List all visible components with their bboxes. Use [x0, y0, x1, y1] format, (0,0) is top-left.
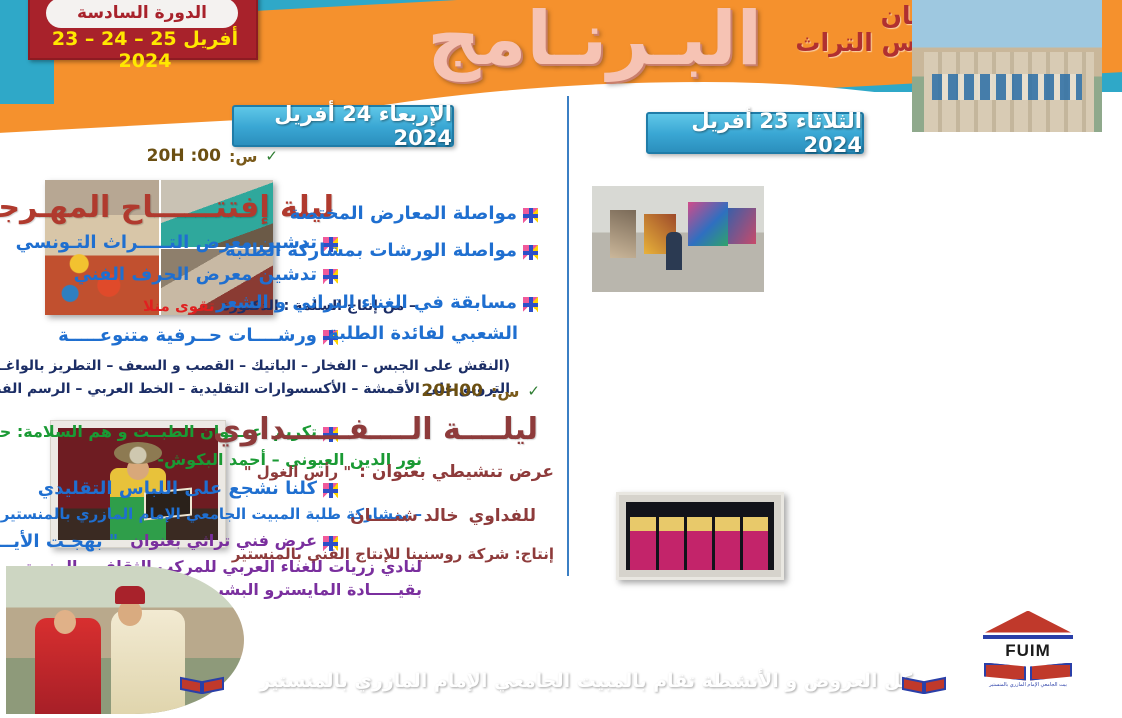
column-divider	[567, 96, 569, 576]
wednesday-performer-label: للفداوي	[469, 506, 536, 526]
troupe-photo	[616, 492, 784, 580]
troupe-performer	[743, 517, 768, 570]
fuim-logo-name: FUIM	[1005, 641, 1051, 661]
wednesday-production: إنتاج: شركة روسنينا للإنتاج الفني بالمنس…	[232, 545, 554, 563]
tuesday-item-1: تدشين معرض الحرف الفني	[74, 264, 338, 285]
fuim-bar-icon	[983, 635, 1073, 639]
fuim-book-left-page	[984, 663, 1026, 681]
tuesday-time-value: 20H :00	[147, 146, 221, 166]
expo-artwork-3	[610, 210, 636, 258]
header-photo-tilework	[932, 74, 1082, 100]
tuesday-workshops-line1: (النقش على الجبس – الفخار – الباتيك – ال…	[0, 358, 510, 374]
bullet-icon	[523, 297, 538, 312]
tuesday-show-title: " بهجـت الأيــام "	[0, 531, 118, 552]
wednesday-time-label: س:	[491, 382, 519, 401]
troupe-performer	[687, 517, 712, 570]
festival-program-poster: الدورة السادسة 23 – 24 – 25 أفريل 2024 م…	[0, 0, 1122, 718]
date-banner-wednesday: الإربعاء 24 أفريل 2024	[232, 105, 454, 147]
fuim-logo-sub: بيت الجامعي الإمام المازري بالمنستير	[989, 682, 1067, 688]
wednesday-performer-row: للفداوي خالد شنــــان	[350, 506, 536, 526]
expo-visitor-figure	[666, 232, 682, 270]
footer-note: كل العروض و الأنشطة تقام بالمبيت الجامعي…	[259, 670, 912, 692]
troupe-photo-inner	[626, 502, 774, 570]
expo-artwork-1	[688, 202, 728, 246]
exhibition-photo	[592, 186, 764, 292]
troupe-performer	[715, 517, 740, 570]
tuesday-workshops-title: ورشــــات حــرفية متنوعـــــة	[58, 325, 317, 346]
date-banner-tuesday-label: الثلاثاء 23 أفريل 2024	[648, 109, 862, 157]
bullet-icon	[323, 269, 338, 284]
edition-dates: 23 – 24 – 25 أفريل 2024	[30, 28, 260, 72]
troupe-performer	[659, 517, 684, 570]
header-medina-photo	[912, 0, 1102, 132]
wednesday-performer-name: خالد شنــــان	[350, 506, 459, 526]
footer-book-icon-left	[902, 674, 946, 694]
edition-pill: الدورة السادسة	[46, 0, 238, 28]
fondaoui-hat	[114, 442, 162, 464]
footer-book-icon-right	[180, 674, 224, 694]
bullet-icon	[323, 483, 338, 498]
wednesday-show-title: " رأس الغول "	[244, 463, 351, 481]
wednesday-item-1-label: مواصلة الورشات بمشاركة الطلبة	[225, 240, 517, 261]
fuim-roof-icon	[985, 611, 1071, 633]
wednesday-item-1: مواصلة الورشات بمشاركة الطلبة	[225, 240, 538, 261]
page-title: البـرنـامج	[427, 0, 762, 82]
wednesday-show-line: عرض تنشيطي بعنوان :	[359, 462, 554, 482]
fuim-logo: FUIM بيت الجامعي الإمام المازري بالمنستي…	[970, 608, 1086, 690]
bullet-icon	[523, 245, 538, 260]
edition-badge: الدورة السادسة 23 – 24 – 25 أفريل 2024	[28, 0, 258, 60]
wedding-bride-head	[54, 610, 76, 634]
wedding-groom-chechia-icon	[115, 586, 145, 604]
tuesday-headline: ليلة إفتتــــــاح المهـرجـان	[0, 190, 334, 225]
wednesday-item-0-label: مواصلة المعارض المختصة	[290, 203, 517, 224]
wednesday-competition-line1: مسابقة في الغناء التراثي و الشعر	[216, 292, 517, 313]
tuesday-item-1-label: تدشين معرض الحرف الفني	[74, 264, 317, 285]
fuim-book-right-page	[1030, 663, 1072, 681]
date-banner-tuesday: الثلاثاء 23 أفريل 2024	[646, 112, 864, 154]
bullet-icon	[523, 208, 538, 223]
date-banner-wednesday-label: الإربعاء 24 أفريل 2024	[234, 102, 452, 150]
check-icon: ✓	[527, 382, 540, 400]
tuesday-workshops-title-row: ورشــــات حــرفية متنوعـــــة	[58, 325, 338, 346]
wednesday-show-row: عرض تنشيطي بعنوان : " رأس الغول "	[244, 462, 554, 482]
wednesday-item-0: مواصلة المعارض المختصة	[290, 203, 538, 224]
edition-label: الدورة السادسة	[77, 3, 207, 23]
troupe-performer	[630, 517, 655, 570]
wednesday-competition-line2: الشعبي لفائدة الطلبة	[328, 323, 518, 344]
fuim-book-icon	[984, 663, 1072, 681]
tuesday-production-name: تقوى منلا	[143, 297, 215, 315]
wednesday-headline: ليلــــة الــــفــــــداوي	[213, 412, 538, 447]
wednesday-time-row: ✓ س: 20H00	[421, 381, 540, 401]
wednesday-time-value: 20H00	[421, 381, 483, 401]
wednesday-competition-row: مسابقة في الغناء التراثي و الشعر	[216, 292, 538, 313]
expo-artwork-4	[728, 208, 756, 244]
